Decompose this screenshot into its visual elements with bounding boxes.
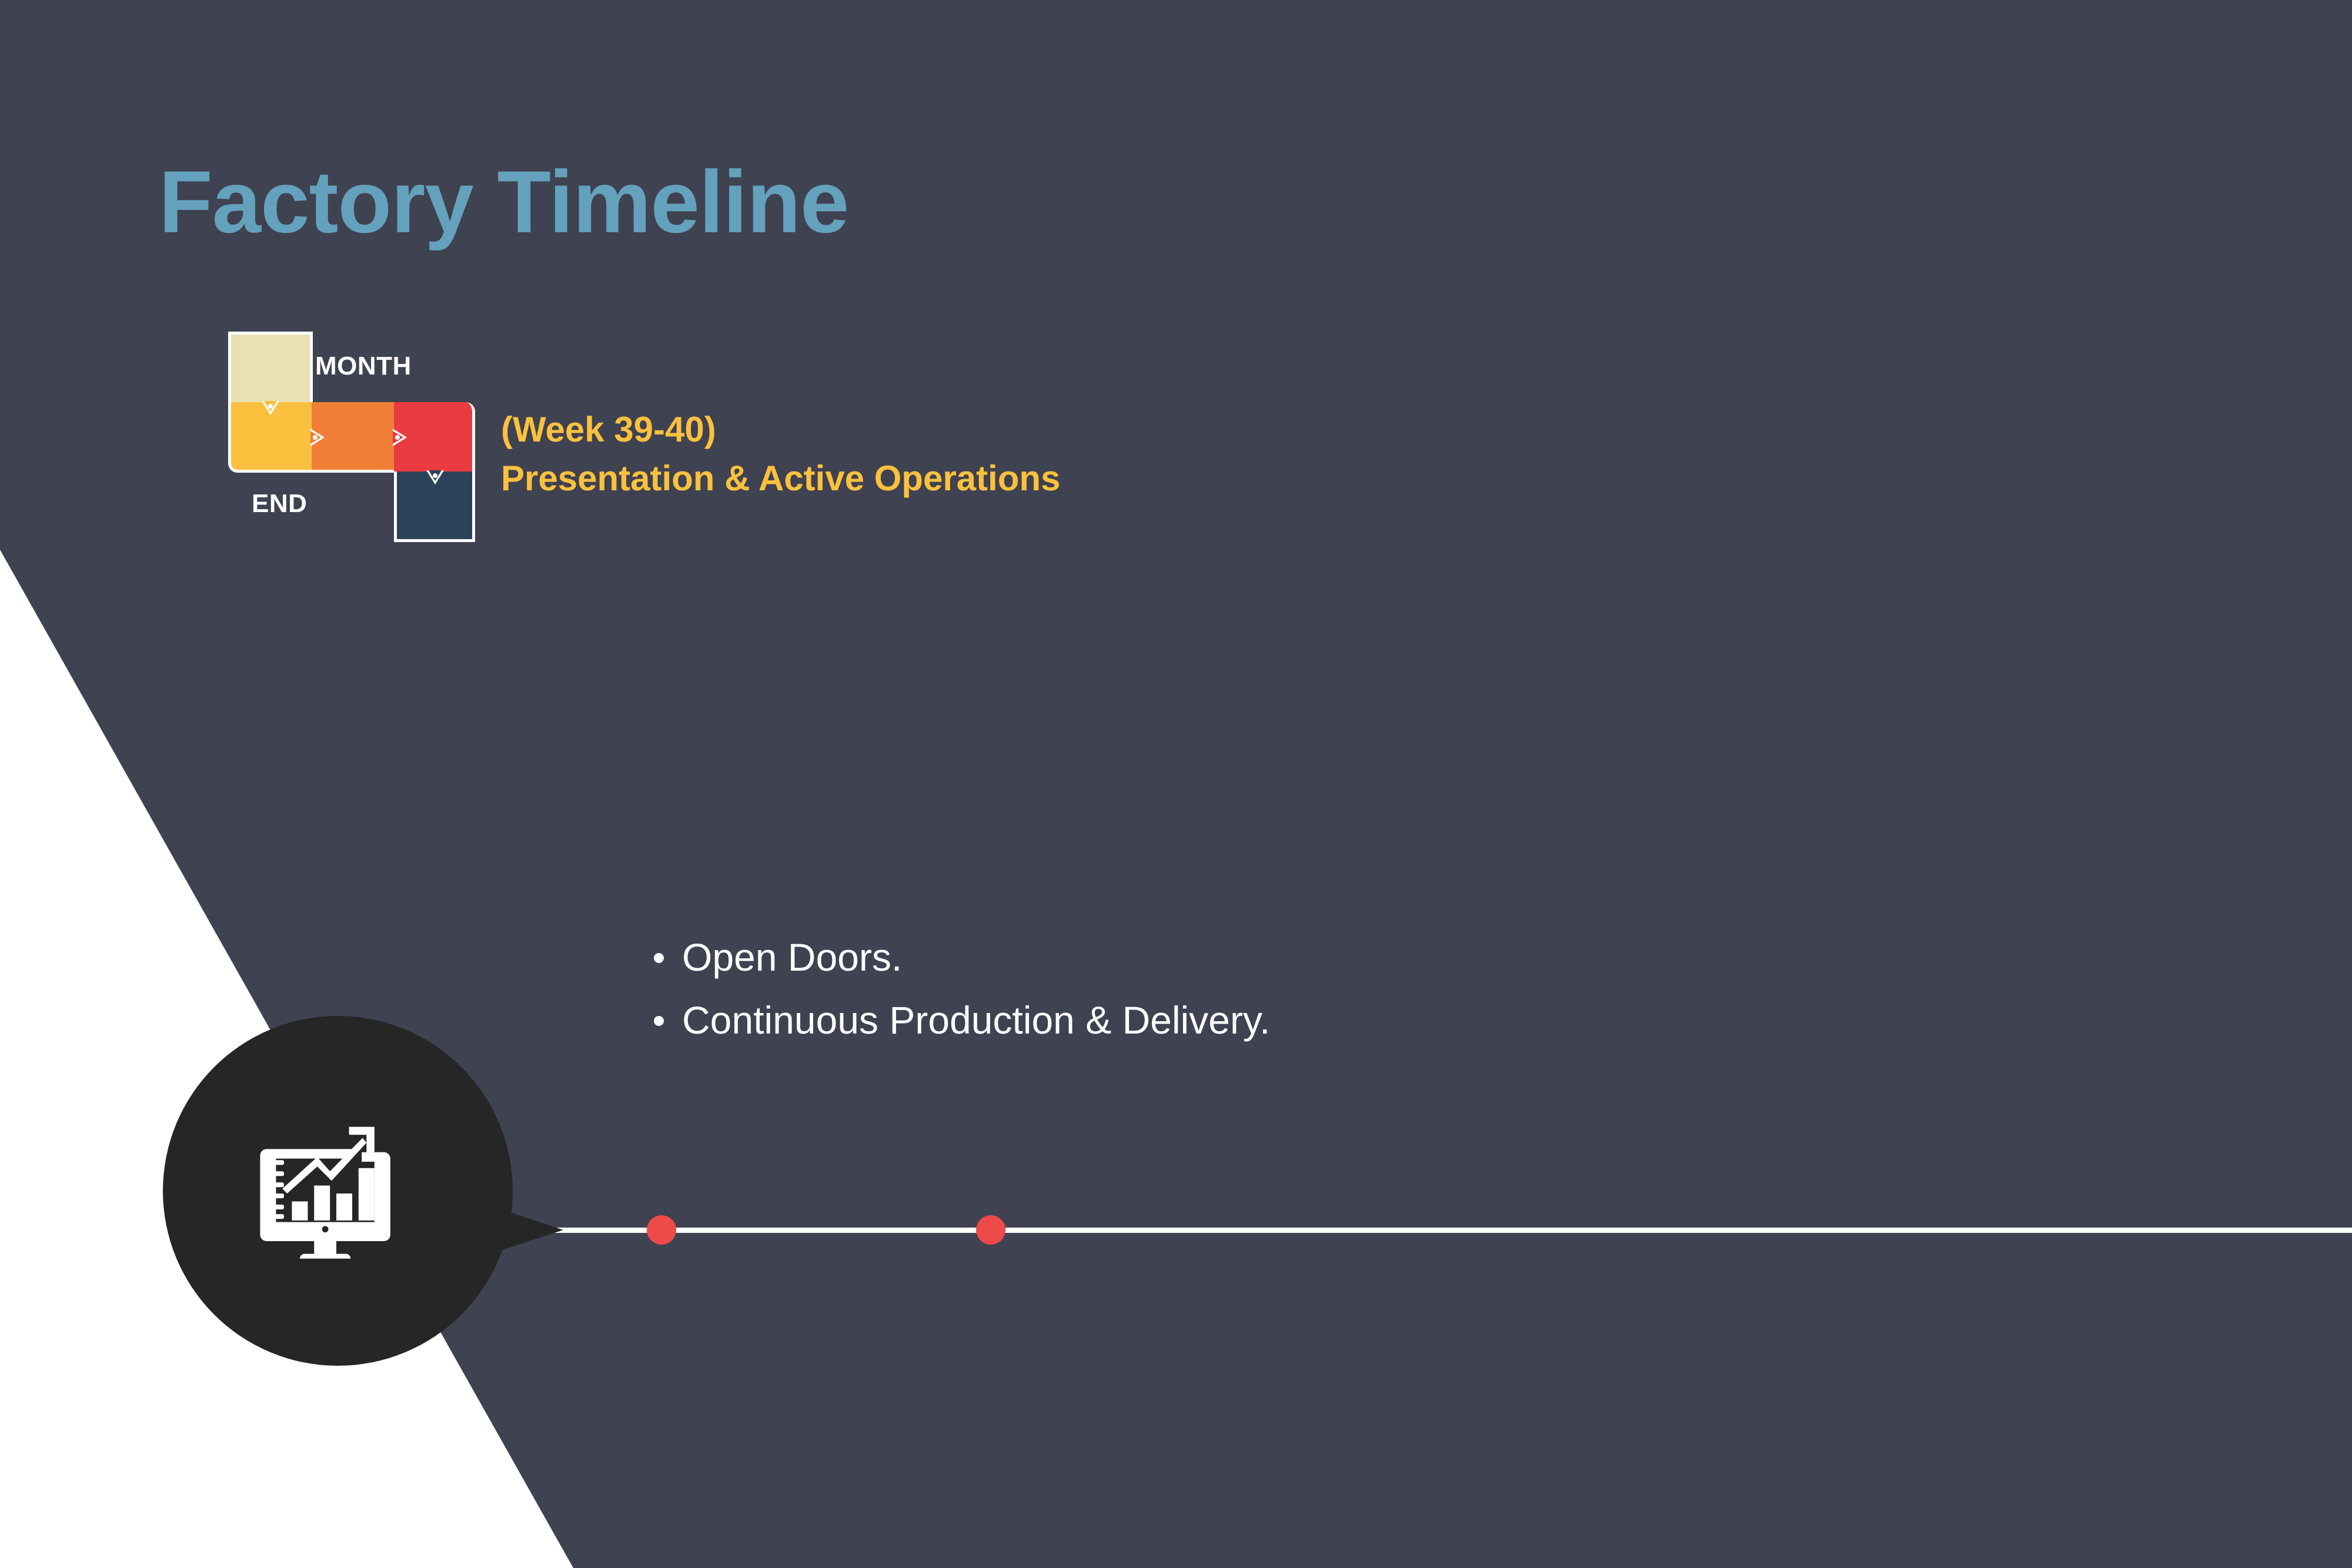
- slide-canvas: Factory Timeline MONTH END (Week 39-40) …: [0, 0, 2352, 1568]
- bullet-list: Open Doors. Continuous Production & Deli…: [641, 926, 1270, 1052]
- logo-notch-dot-yellow: [268, 404, 273, 409]
- timeline-milestone-dot-2[interactable]: [976, 1215, 1005, 1245]
- subtitle-block: (Week 39-40) Presentation & Active Opera…: [501, 406, 1060, 503]
- page-title: Factory Timeline: [159, 156, 848, 249]
- subtitle-description: Presentation & Active Operations: [501, 454, 1060, 503]
- timeline-milestone-dot-1[interactable]: [647, 1215, 676, 1245]
- logo-notch-dot-navy: [433, 473, 437, 478]
- subtitle-week-range: (Week 39-40): [501, 406, 1060, 454]
- timeline-axis: [553, 1228, 2352, 1233]
- list-item: Continuous Production & Delivery.: [682, 989, 1270, 1052]
- list-item: Open Doors.: [682, 926, 1270, 989]
- logo-block-cream: [228, 332, 313, 403]
- logo-label-end: END: [252, 489, 307, 519]
- monitor-growth-chart-icon: [257, 1114, 416, 1273]
- logo-label-month: MONTH: [315, 352, 412, 381]
- logo-notch-dot-orange: [313, 435, 318, 440]
- month-end-logo: MONTH END: [200, 317, 494, 553]
- logo-notch-dot-red: [395, 435, 400, 440]
